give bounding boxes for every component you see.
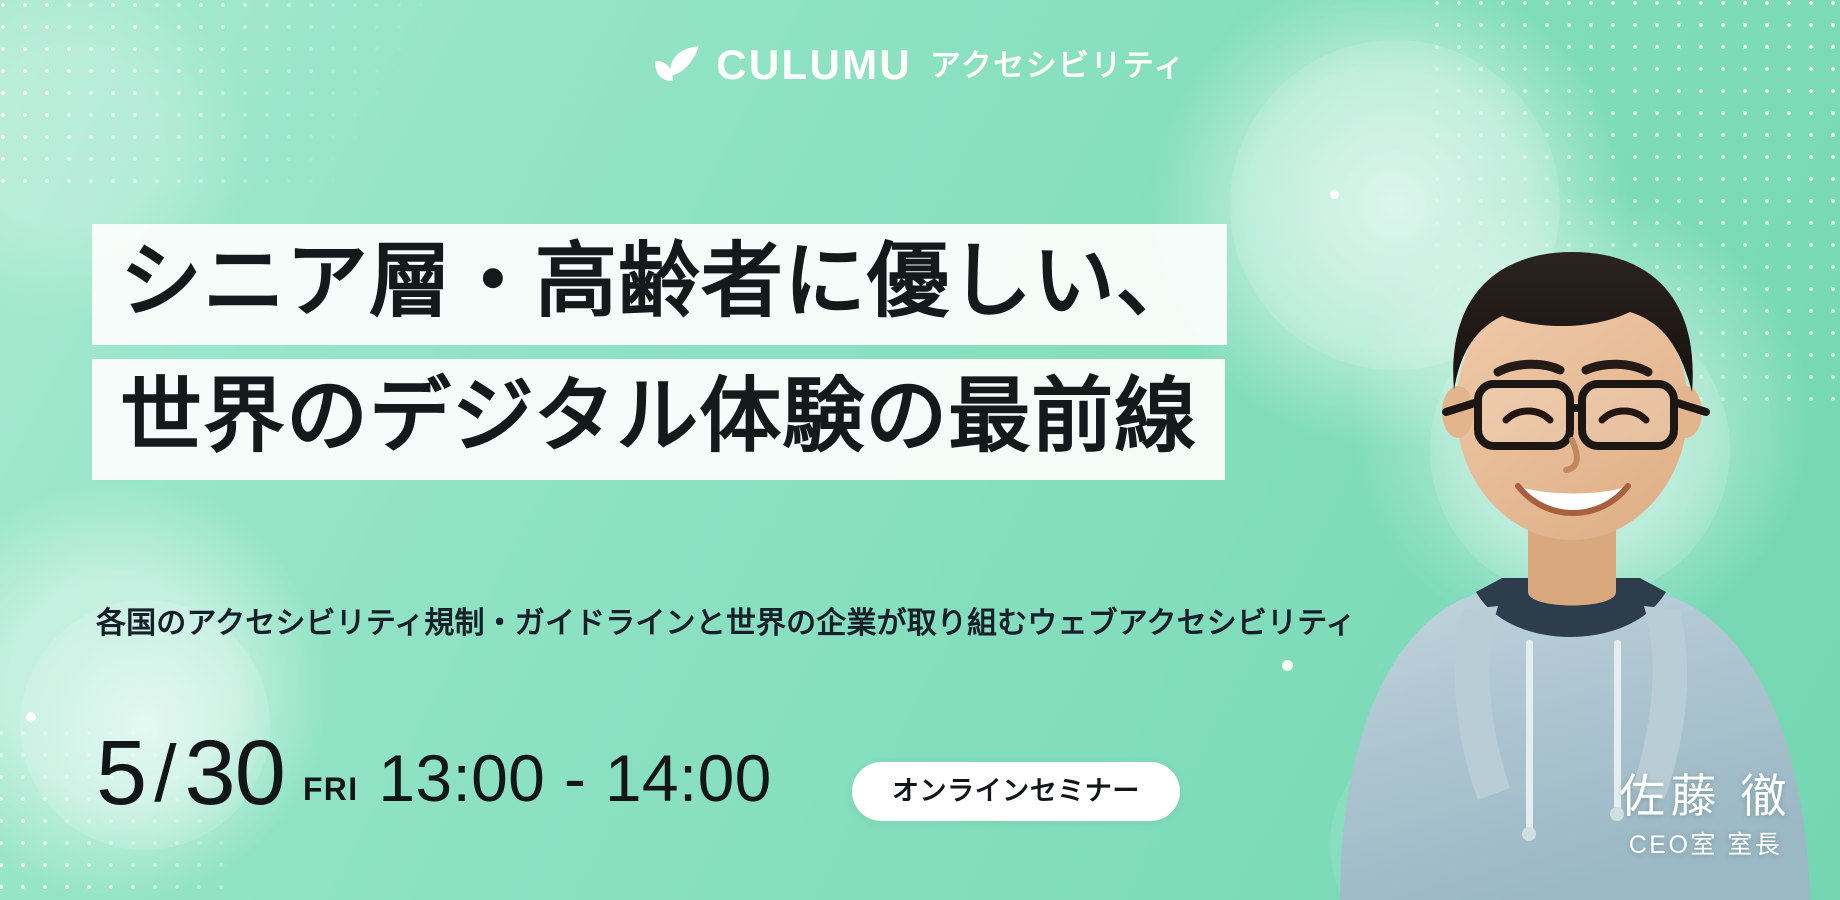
speaker-caption: 佐藤 徹 CEO室 室長 [1619,771,1792,860]
headline-line-1-box: シニア層・高齢者に優しい、 [92,224,1227,345]
event-day-of-week: FRI [303,773,358,805]
status-badge: オンラインセミナー [852,762,1180,821]
event-time: 13:00 - 14:00 [378,745,771,811]
schedule-row: 5 / 30 FRI 13:00 - 14:00 [96,730,772,817]
seminar-banner: CULUMU アクセシビリティ シニア層・高齢者に優しい、 世界のデジタル体験の… [0,0,1840,900]
dot-decoration [26,712,36,722]
date-separator: / [154,734,176,814]
headline-line-2: 世界のデジタル体験の最前線 [120,369,1197,464]
speaker-role: CEO室 室長 [1619,830,1792,860]
subtitle: 各国のアクセシビリティ規制・ガイドラインと世界の企業が取り組むウェブアクセシビリ… [96,598,1356,642]
event-month: 5 [96,730,146,817]
dot-pattern-decoration [0,0,422,184]
event-day: 30 [184,730,285,817]
logo-wordmark: CULUMU [716,44,912,86]
logo-subword: アクセシビリティ [930,50,1186,81]
brand-logo: CULUMU アクセシビリティ [0,44,1840,86]
leaf-icon [654,45,700,85]
headline-line-2-box: 世界のデジタル体験の最前線 [92,359,1225,480]
headline-block: シニア層・高齢者に優しい、 世界のデジタル体験の最前線 [92,224,1840,494]
headline-line-1: シニア層・高齢者に優しい、 [120,234,1199,329]
speaker-name: 佐藤 徹 [1619,771,1792,822]
